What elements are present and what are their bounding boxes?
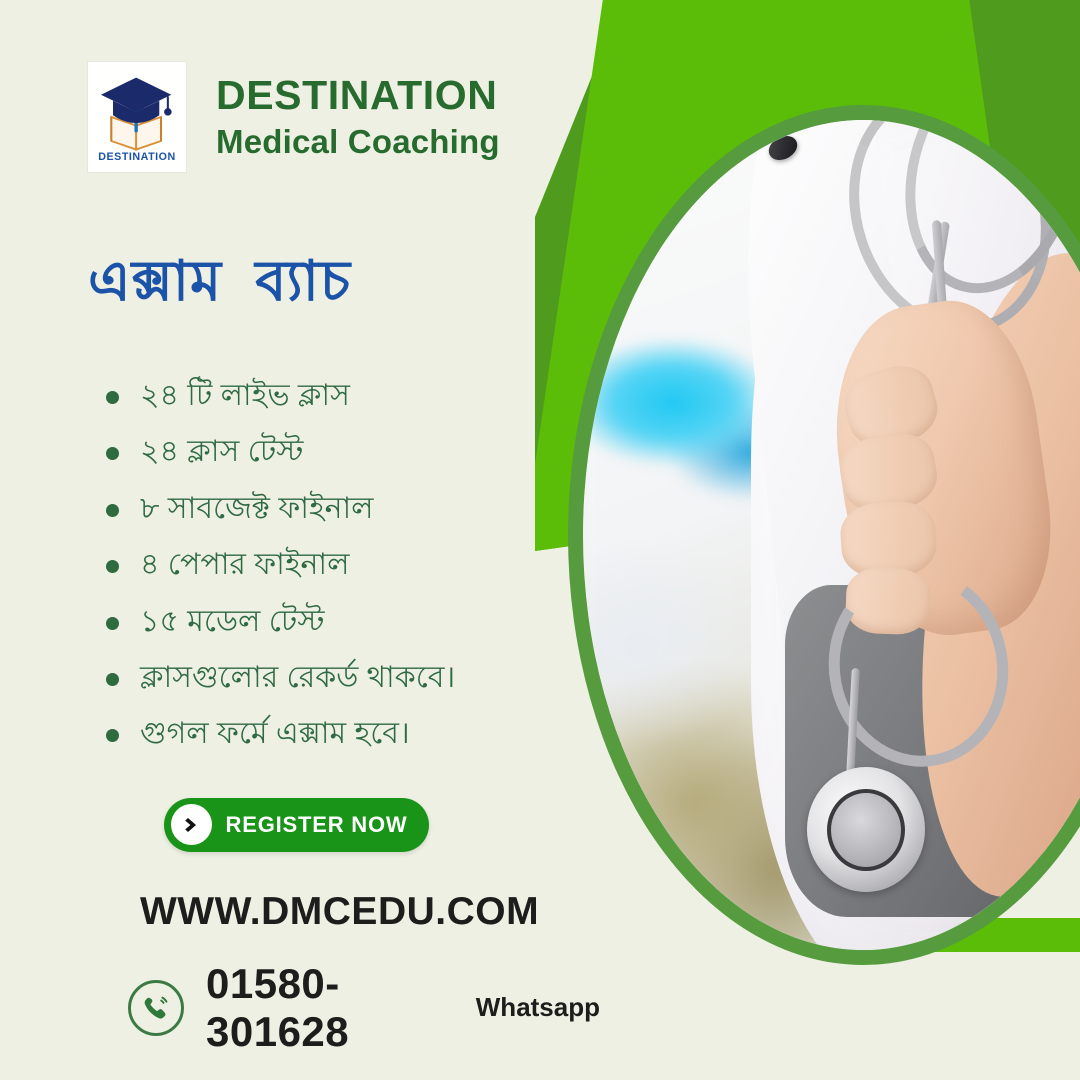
brand-header: DESTINATION DESTINATION Medical Coaching — [88, 62, 600, 172]
brand-title-secondary: Medical Coaching — [216, 125, 500, 160]
contact-row: 01580-301628 Whatsapp — [128, 960, 600, 1056]
list-item: ৪ পেপার ফাইনাল — [88, 547, 600, 582]
brand-title-group: DESTINATION Medical Coaching — [216, 74, 500, 159]
poster-canvas: DESTINATION DESTINATION Medical Coaching… — [0, 0, 1080, 1080]
register-now-button[interactable]: REGISTER NOW — [164, 798, 429, 852]
phone-call-icon — [128, 980, 184, 1036]
list-item: ক্লাসগুলোর রেকর্ড থাকবে। — [88, 660, 600, 695]
list-item: ১৫ মডেল টেস্ট — [88, 604, 600, 639]
list-item: ২৪ টি লাইভ ক্লাস — [88, 378, 600, 413]
list-item: গুগল ফর্মে এক্সাম হবে। — [88, 716, 600, 751]
logo-container: DESTINATION — [88, 62, 186, 172]
phone-number[interactable]: 01580-301628 — [206, 960, 424, 1056]
graduation-cap-caduceus-book-icon: DESTINATION — [94, 69, 180, 165]
logo-wordmark: DESTINATION — [98, 151, 175, 163]
list-item: ২৪ ক্লাস টেস্ট — [88, 434, 600, 469]
website-url[interactable]: WWW.DMCEDU.COM — [140, 890, 600, 934]
register-button-label: REGISTER NOW — [212, 812, 429, 838]
feature-list: ২৪ টি লাইভ ক্লাস ২৪ ক্লাস টেস্ট ৮ সাবজেক… — [88, 378, 600, 752]
page-title: এক্সাম ব্যাচ — [88, 238, 600, 332]
stethoscope-chestpiece — [807, 767, 925, 892]
doctor-photo-ring — [568, 105, 1080, 965]
content-column: DESTINATION DESTINATION Medical Coaching… — [0, 0, 600, 1080]
list-item: ৮ সাবজেক্ট ফাইনাল — [88, 491, 600, 526]
whatsapp-label: Whatsapp — [476, 992, 600, 1023]
doctor-photo — [583, 120, 1080, 950]
chevron-right-icon — [171, 804, 212, 845]
brand-title-primary: DESTINATION — [216, 74, 500, 117]
